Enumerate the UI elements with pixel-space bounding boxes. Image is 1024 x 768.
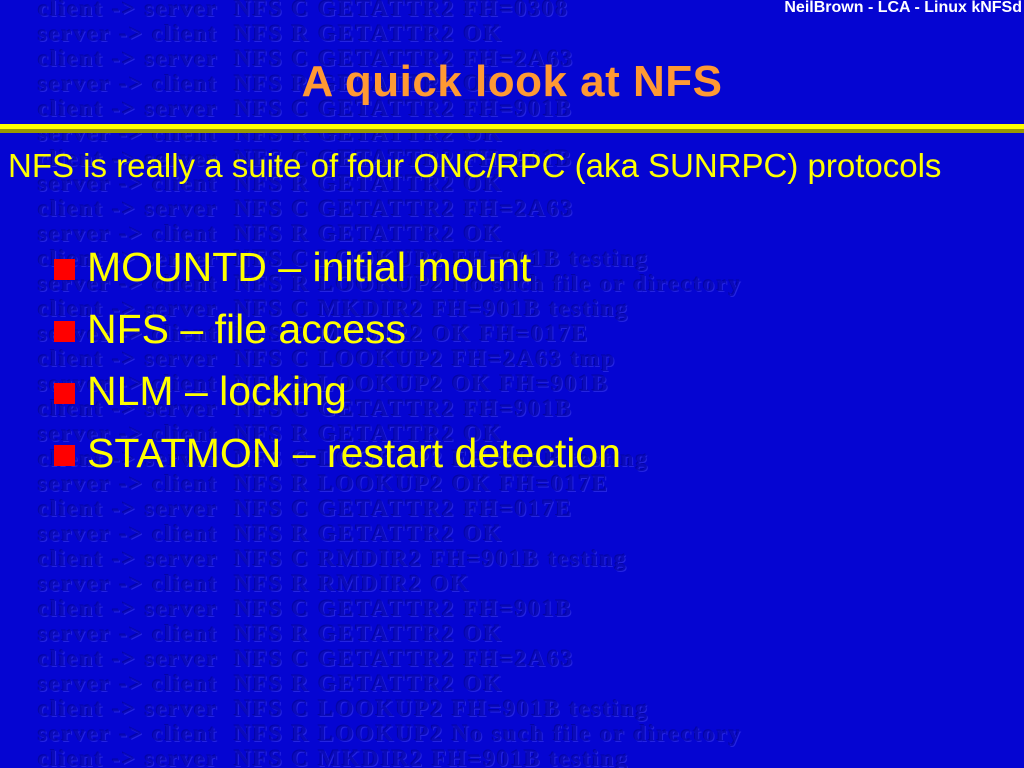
trace-line: client -> server NFS C GETATTR2 FH=901B <box>38 596 573 621</box>
list-item: MOUNTD – initial mount <box>54 236 621 298</box>
trace-line: server -> client NFS R RMDIR2 OK <box>38 571 471 596</box>
trace-line: server -> client NFS R GETATTR2 OK <box>38 521 503 546</box>
bullet-item-label: NLM – locking <box>87 371 347 412</box>
trace-line: client -> server NFS C MKDIR2 FH=901B te… <box>38 746 629 768</box>
square-bullet-icon <box>54 259 75 280</box>
bullet-item-label: NFS – file access <box>87 309 406 350</box>
list-item: NLM – locking <box>54 360 621 422</box>
trace-line: client -> server NFS C GETATTR2 FH=2A63 <box>38 196 574 221</box>
trace-line: server -> client NFS R GETATTR2 OK <box>38 621 503 646</box>
page-title: A quick look at NFS <box>0 57 1024 107</box>
bullet-item-label: STATMON – restart detection <box>87 433 621 474</box>
list-item: NFS – file access <box>54 298 621 360</box>
bullet-item-label: MOUNTD – initial mount <box>87 247 531 288</box>
trace-line: server -> client NFS R GETATTR2 OK <box>38 671 503 696</box>
list-item: STATMON – restart detection <box>54 422 621 484</box>
trace-line: server -> client NFS R GETATTR2 OK <box>38 21 503 46</box>
square-bullet-icon <box>54 321 75 342</box>
square-bullet-icon <box>54 383 75 404</box>
title-divider <box>0 124 1024 133</box>
slide-subtitle: NFS is really a suite of four ONC/RPC (a… <box>8 147 941 185</box>
trace-line: client -> server NFS C GETATTR2 FH=0308 <box>38 0 569 21</box>
trace-line: client -> server NFS C GETATTR2 FH=2A63 <box>38 646 574 671</box>
trace-line: client -> server NFS C LOOKUP2 FH=901B t… <box>38 696 649 721</box>
square-bullet-icon <box>54 445 75 466</box>
trace-line: client -> server NFS C GETATTR2 FH=017E <box>38 496 573 521</box>
slide-canvas: client -> server NFS C GETATTR2 FH=0308s… <box>0 0 1024 768</box>
divider-rule-dark <box>0 129 1024 133</box>
bullet-list: MOUNTD – initial mountNFS – file accessN… <box>54 236 621 484</box>
trace-line: client -> server NFS C RMDIR2 FH=901B te… <box>38 546 628 571</box>
trace-line: server -> client NFS R LOOKUP2 No such f… <box>38 721 743 746</box>
slide-header-label: NeilBrown - LCA - Linux kNFSd <box>784 0 1022 17</box>
